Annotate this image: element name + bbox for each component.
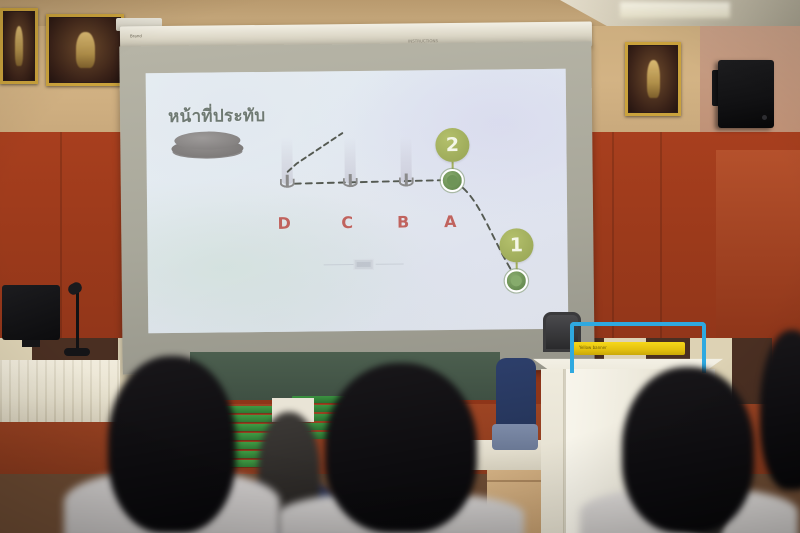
head-table [0,360,120,422]
ceiling-light [620,2,730,18]
microphone-base [64,348,90,356]
wall-seam [660,132,662,342]
screen-brand-label: Brand [130,33,142,38]
scene-root: Brand INSTRUCTIONS หน้าที่ประทับ [0,0,800,533]
pin-cup [343,178,358,187]
pin-cup [280,179,295,188]
label-B: B [392,212,414,231]
label-D: D [273,214,295,233]
route-line-main [295,180,452,184]
lectern-banner-label: Yellow banner [579,345,607,350]
microphone-stand [76,290,79,352]
label-A: A [439,212,461,231]
wall-speaker [718,60,774,128]
portrait-right-1 [625,42,681,116]
pin-cup [399,177,414,186]
portrait-left-1 [0,8,38,84]
badge-1-label: 1 [510,234,523,256]
stage-monitor [2,285,60,340]
portrait-figure [76,32,95,69]
monitor-base [22,340,40,347]
badge-1[interactable]: 1 [499,228,533,262]
audience-head [108,356,236,533]
scale-bar [324,259,404,271]
pin-B[interactable] [399,173,414,190]
node-1-inner [511,275,522,286]
blue-rail-leg [570,343,574,373]
portrait-figure [647,60,660,98]
node-1[interactable] [505,269,528,292]
leader-line-D [287,133,342,172]
lectern-left-face [541,369,564,533]
table-skirt [0,360,120,422]
audience-head [622,367,754,533]
blue-rail [570,322,706,344]
portrait-left-2 [46,14,124,86]
badge-2[interactable]: 2 [435,128,469,162]
badge-2-label: 2 [446,134,459,156]
label-C: C [336,213,358,232]
route-path-layer [146,69,569,333]
seated-person-legs [492,424,538,450]
node-A-inner [447,175,458,186]
scale-box [354,259,374,270]
scale-line-right [376,264,404,266]
seated-person [496,358,536,450]
pin-C[interactable] [343,174,358,191]
scale-line-left [324,264,354,266]
wall-red-right [716,150,800,342]
lectern-edge [563,369,566,533]
audience-head [325,363,477,533]
wall-seam [612,132,614,342]
portrait-figure [15,26,23,65]
slide-content: หน้าที่ประทับ [146,69,569,333]
pin-D[interactable] [280,175,295,192]
node-A[interactable] [441,169,464,192]
wall-seam [60,132,62,342]
scale-box-fill [357,262,371,267]
